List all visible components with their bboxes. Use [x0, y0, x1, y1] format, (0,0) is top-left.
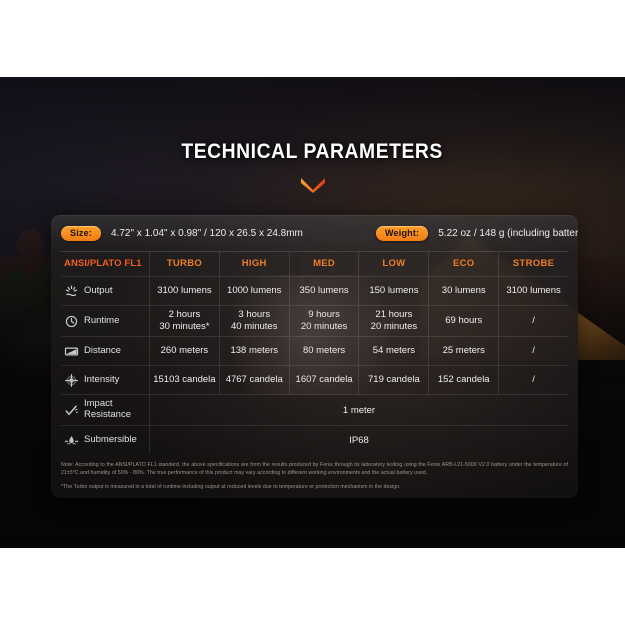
row-label-text: Intensity [84, 375, 119, 386]
table-header-row: ANSI/PLATO FL1TURBOHIGHMEDLOWECOSTROBE [61, 251, 568, 276]
column-header-5: ECO [428, 252, 498, 276]
row-label-cell: Distance [61, 337, 149, 365]
table-cell: 80 meters [289, 337, 359, 365]
table-cell: 21 hours20 minutes [358, 306, 428, 336]
table-cell: 30 lumens [428, 277, 498, 305]
table-cell: 350 lumens [289, 277, 359, 305]
impact-resistance-icon [64, 403, 79, 418]
table-row: Output3100 lumens1000 lumens350 lumens15… [61, 276, 568, 305]
row-label: Output [64, 284, 113, 299]
table-cell: 15103 candela [149, 366, 219, 394]
row-label-text: Distance [84, 346, 121, 357]
row-label-cell: Intensity [61, 366, 149, 394]
table-cell: 138 meters [219, 337, 289, 365]
row-label-text: Submersible [84, 435, 137, 446]
table-cell: 152 candela [428, 366, 498, 394]
table-cell: / [498, 366, 568, 394]
table-cell: 3 hours40 minutes [219, 306, 289, 336]
table-cell: 719 candela [358, 366, 428, 394]
row-label-text: Output [84, 286, 113, 297]
size-weight-row: Size: 4.72" x 1.04" x 0.98" / 120 x 26.5… [51, 215, 578, 251]
table-row: SubmersibleIP68 [61, 425, 568, 454]
row-label: Runtime [64, 314, 119, 329]
row-label-cell: Output [61, 277, 149, 305]
table-cell: 2 hours30 minutes* [149, 306, 219, 336]
distance-beam-icon [64, 344, 79, 359]
weight-item: Weight: 5.22 oz / 148 g (including batte… [376, 226, 578, 241]
size-item: Size: 4.72" x 1.04" x 0.98" / 120 x 26.5… [61, 226, 303, 241]
submersible-icon [64, 433, 79, 448]
spec-table: ANSI/PLATO FL1TURBOHIGHMEDLOWECOSTROBEOu… [61, 251, 568, 454]
note-secondary: *The Turbo output is measured in a total… [61, 483, 568, 491]
row-label-cell: Runtime [61, 306, 149, 336]
row-label: ImpactResistance [64, 399, 131, 420]
row-label: Distance [64, 344, 121, 359]
table-cell: 9 hours20 minutes [289, 306, 359, 336]
page-title: TECHNICAL PARAMETERS [182, 140, 443, 164]
table-cell: / [498, 306, 568, 336]
row-label: Submersible [64, 433, 137, 448]
bottom-white-band [0, 548, 625, 625]
table-cell: 4767 candela [219, 366, 289, 394]
table-row: Intensity15103 candela4767 candela1607 c… [61, 365, 568, 394]
table-cell: 260 meters [149, 337, 219, 365]
intensity-crosshair-icon [64, 373, 79, 388]
row-label-cell: Submersible [61, 426, 149, 454]
chevron-wrap [0, 177, 625, 198]
note-primary: Note: According to the ANSI/PLATO FL1 st… [61, 461, 568, 478]
clock-icon [64, 314, 79, 329]
column-header-1: TURBO [149, 252, 219, 276]
table-cell: 54 meters [358, 337, 428, 365]
table-row: Runtime2 hours30 minutes*3 hours40 minut… [61, 305, 568, 336]
table-cell: 1000 lumens [219, 277, 289, 305]
weight-badge: Weight: [376, 226, 428, 241]
table-row: ImpactResistance1 meter [61, 394, 568, 425]
table-cell: 69 hours [428, 306, 498, 336]
column-header-4: LOW [358, 252, 428, 276]
column-header-6: STROBE [498, 252, 568, 276]
table-cell: / [498, 337, 568, 365]
hero-title-wrap: TECHNICAL PARAMETERS [0, 140, 625, 164]
table-cell: 3100 lumens [149, 277, 219, 305]
size-badge: Size: [61, 226, 101, 241]
spec-panel: Size: 4.72" x 1.04" x 0.98" / 120 x 26.5… [51, 215, 578, 498]
table-cell-spanned: 1 meter [149, 395, 568, 425]
page-root: TECHNICAL PARAMETERS Size: 4.72" x 1.04"… [0, 0, 625, 625]
top-white-band [0, 0, 625, 77]
output-starburst-icon [64, 284, 79, 299]
table-row: Distance260 meters138 meters80 meters54 … [61, 336, 568, 365]
row-label-text: Runtime [84, 316, 119, 327]
table-cell-spanned: IP68 [149, 426, 568, 454]
weight-value: 5.22 oz / 148 g (including battery). [438, 228, 578, 239]
row-label-cell: ImpactResistance [61, 395, 149, 425]
column-header-0: ANSI/PLATO FL1 [61, 252, 149, 276]
table-cell: 25 meters [428, 337, 498, 365]
column-header-2: HIGH [219, 252, 289, 276]
table-cell: 150 lumens [358, 277, 428, 305]
chevron-down-icon [300, 177, 326, 193]
size-value: 4.72" x 1.04" x 0.98" / 120 x 26.5 x 24.… [111, 228, 303, 239]
row-label-text: ImpactResistance [84, 399, 131, 420]
column-header-3: MED [289, 252, 359, 276]
row-label: Intensity [64, 373, 119, 388]
table-cell: 3100 lumens [498, 277, 568, 305]
notes-block: Note: According to the ANSI/PLATO FL1 st… [51, 454, 578, 491]
table-cell: 1607 candela [289, 366, 359, 394]
